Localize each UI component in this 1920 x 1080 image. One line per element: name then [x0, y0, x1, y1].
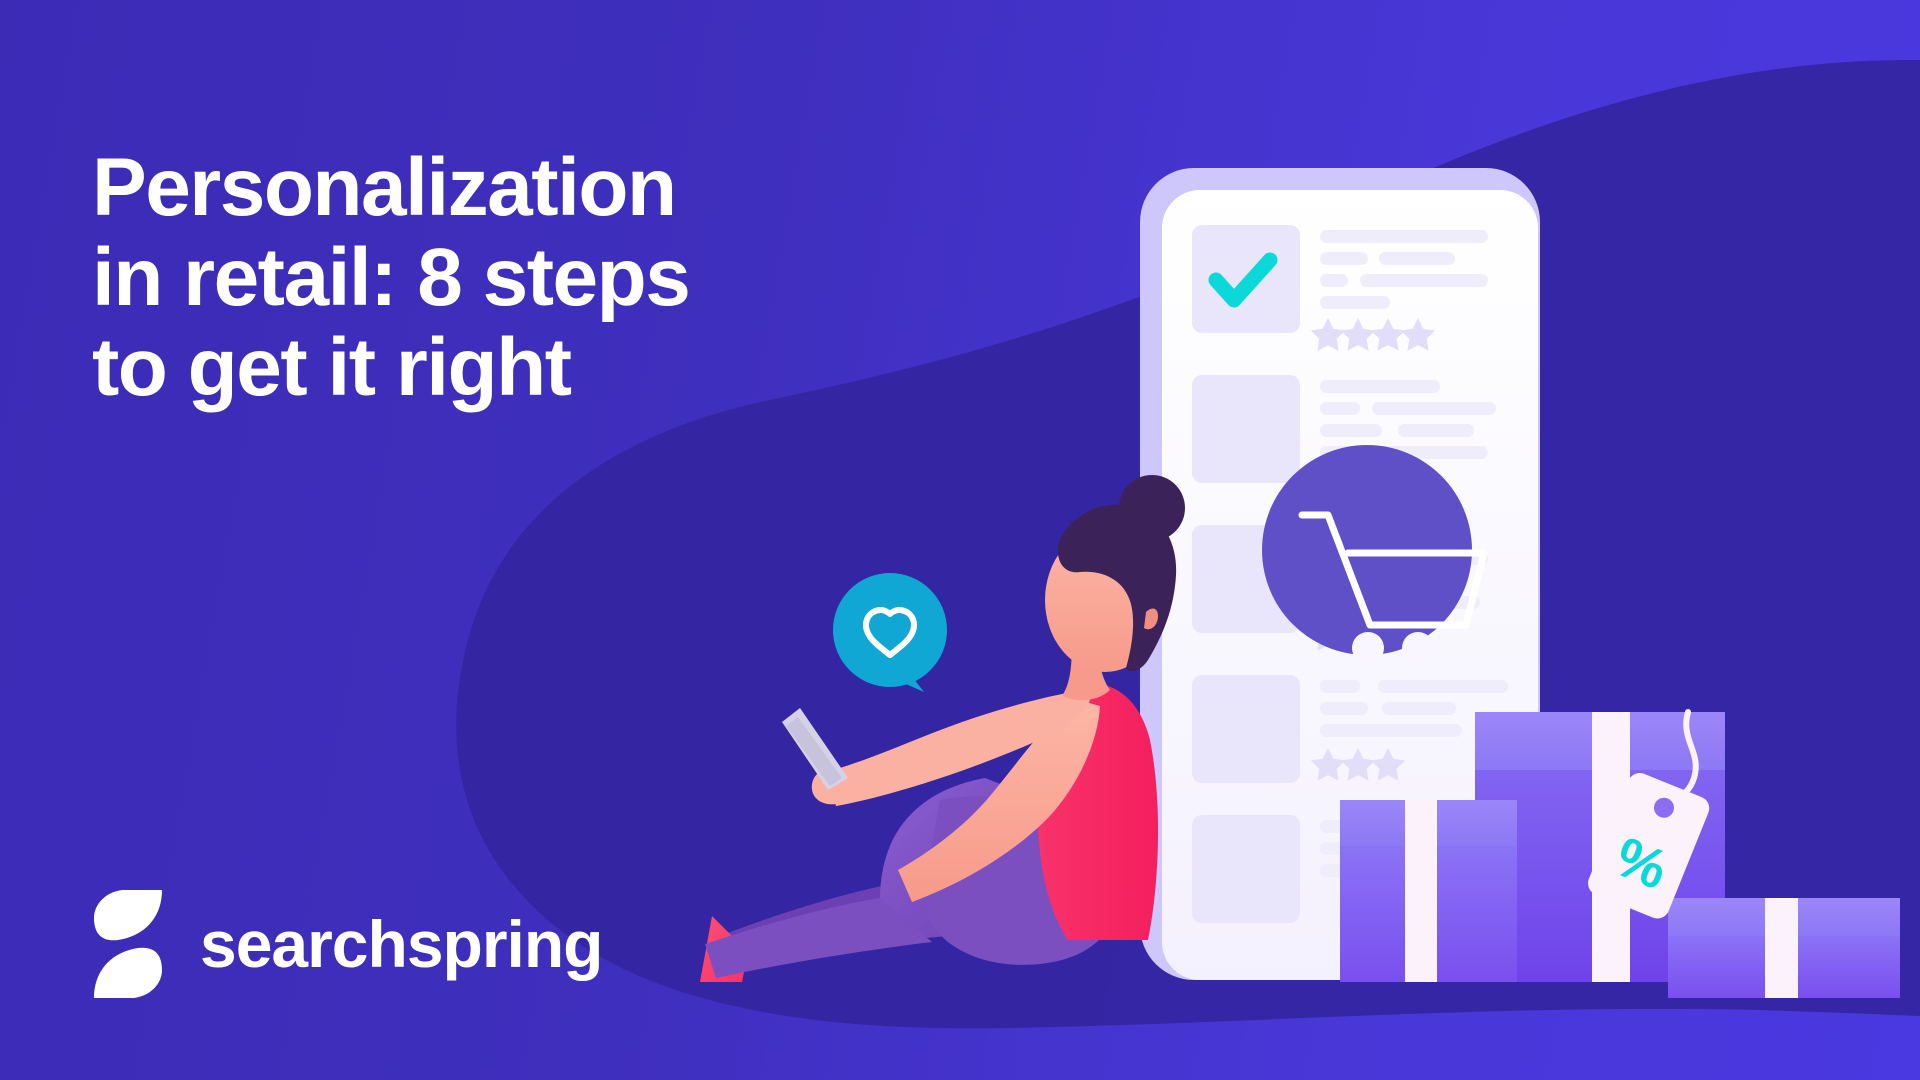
list-item — [1192, 675, 1508, 783]
bubble-tail — [888, 660, 924, 692]
gift-ribbon — [1592, 712, 1630, 982]
star-rating — [1311, 748, 1405, 781]
check-icon — [1216, 260, 1270, 300]
star-rating — [1311, 468, 1405, 501]
searchspring-s-mark-icon — [92, 888, 164, 1000]
page-title: Personalization in retail: 8 steps to ge… — [92, 147, 912, 417]
star-rating — [1311, 318, 1435, 351]
gift-box-wide — [1668, 898, 1900, 998]
person-hair — [1058, 505, 1176, 672]
tag-string — [1662, 712, 1696, 812]
person-head — [1045, 528, 1165, 672]
list-item — [1192, 375, 1496, 501]
headline-line-2: in retail: 8 steps — [92, 237, 912, 319]
person-neck — [1062, 640, 1110, 700]
discount-price-tag: % — [1584, 712, 1712, 922]
person-upper-leg — [880, 778, 1042, 942]
gift-ribbon — [1765, 898, 1798, 998]
headline-line-3: to get it right — [92, 327, 912, 409]
person-far-leg — [710, 882, 960, 960]
person-shoe — [700, 916, 748, 982]
tag-hole — [1651, 795, 1677, 821]
person-hand — [812, 768, 855, 805]
person-torso — [1038, 684, 1158, 940]
shopping-cart-badge — [1262, 445, 1484, 664]
cart-wheel-icon — [1402, 632, 1434, 664]
headline-line-1: Personalization — [92, 147, 912, 229]
heart-icon — [866, 610, 914, 655]
searchspring-logo[interactable]: searchspring — [92, 888, 603, 1000]
person-hip — [922, 796, 1117, 965]
seated-woman-with-phone — [700, 475, 1185, 982]
list-item — [1192, 225, 1488, 351]
person-lower-leg — [705, 898, 932, 978]
gift-box-small — [1340, 800, 1478, 982]
star-rating — [1311, 618, 1405, 651]
person-hair-bun — [1119, 475, 1185, 541]
favorite-speech-bubble — [833, 573, 947, 692]
list-item — [1192, 525, 1488, 651]
smartphone-icon — [782, 708, 848, 790]
brand-wordmark: searchspring — [200, 911, 603, 977]
gift-ribbon — [1405, 800, 1437, 982]
person-arm-lower — [898, 700, 1100, 902]
gift-box-tall — [1475, 712, 1725, 982]
cart-wheel-icon — [1352, 632, 1384, 664]
gift-box-medium — [1445, 800, 1517, 982]
list-item — [1192, 815, 1470, 923]
shopping-cart-icon — [1302, 515, 1484, 625]
promo-banner: Personalization in retail: 8 steps to ge… — [0, 0, 1920, 1080]
product-list-phone-mockup — [1140, 168, 1540, 980]
person-arm-upper — [826, 692, 1090, 806]
percent-symbol: % — [1607, 824, 1677, 901]
